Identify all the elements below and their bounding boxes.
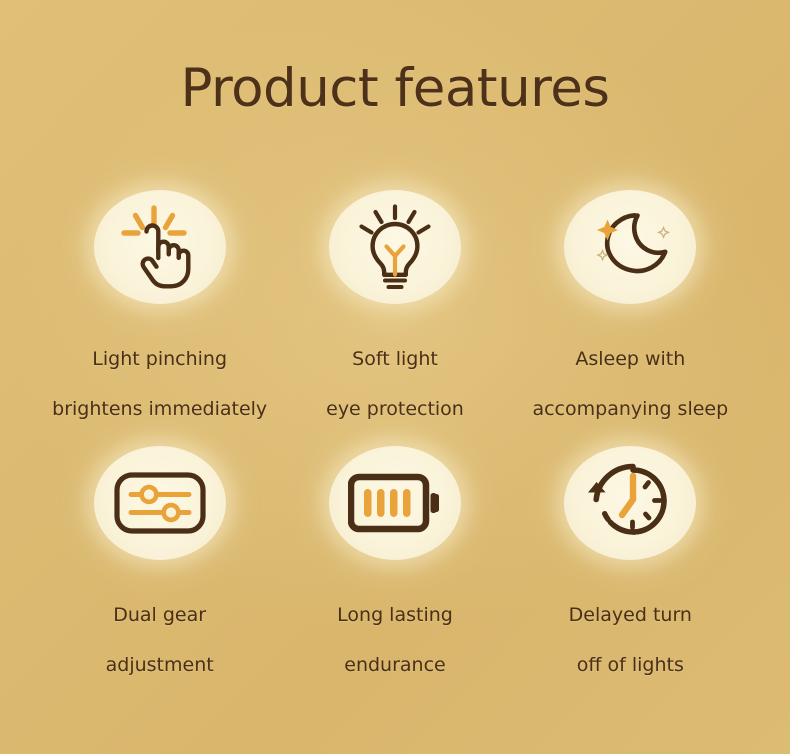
feature-caption: Asleep with accompanying sleep [532,323,728,446]
caption-line-2: off of lights [569,653,692,678]
feature-caption: Dual gear adjustment [106,579,214,702]
caption-line-2: endurance [337,653,453,678]
caption-line-2: accompanying sleep [532,397,728,422]
feature-item: Asleep with accompanying sleep [513,190,748,446]
product-features-poster: Product features [0,0,790,754]
feature-item: Dual gear adjustment [42,446,277,702]
feature-icon-circle [329,446,461,560]
tap-hand-icon [121,205,199,289]
feature-icon-circle [329,190,461,304]
caption-line-2: eye protection [326,397,464,422]
feature-item: Long lasting endurance [277,446,512,702]
caption-line-1: Long lasting [337,603,453,628]
lightbulb-icon [356,204,434,290]
features-grid: Light pinching brightens immediately [42,190,748,702]
caption-line-1: Asleep with [532,347,728,372]
page-title: Product features [0,58,790,119]
feature-icon-circle [94,190,226,304]
feature-caption: Light pinching brightens immediately [52,323,267,446]
feature-icon-circle [564,190,696,304]
battery-icon [348,472,442,534]
feature-icon-circle [564,446,696,560]
feature-item: Light pinching brightens immediately [42,190,277,446]
caption-line-1: Light pinching [52,347,267,372]
feature-item: Delayed turn off of lights [513,446,748,702]
caption-line-1: Dual gear [106,603,214,628]
caption-line-2: adjustment [106,653,214,678]
caption-line-2: brightens immediately [52,397,267,422]
feature-caption: Long lasting endurance [337,579,453,702]
feature-icon-circle [94,446,226,560]
caption-line-1: Soft light [326,347,464,372]
moon-star-icon [587,207,673,287]
sliders-icon [114,472,206,534]
feature-item: Soft light eye protection [277,190,512,446]
caption-line-1: Delayed turn [569,603,692,628]
feature-caption: Soft light eye protection [326,323,464,446]
feature-caption: Delayed turn off of lights [569,579,692,702]
timer-icon [586,461,674,545]
